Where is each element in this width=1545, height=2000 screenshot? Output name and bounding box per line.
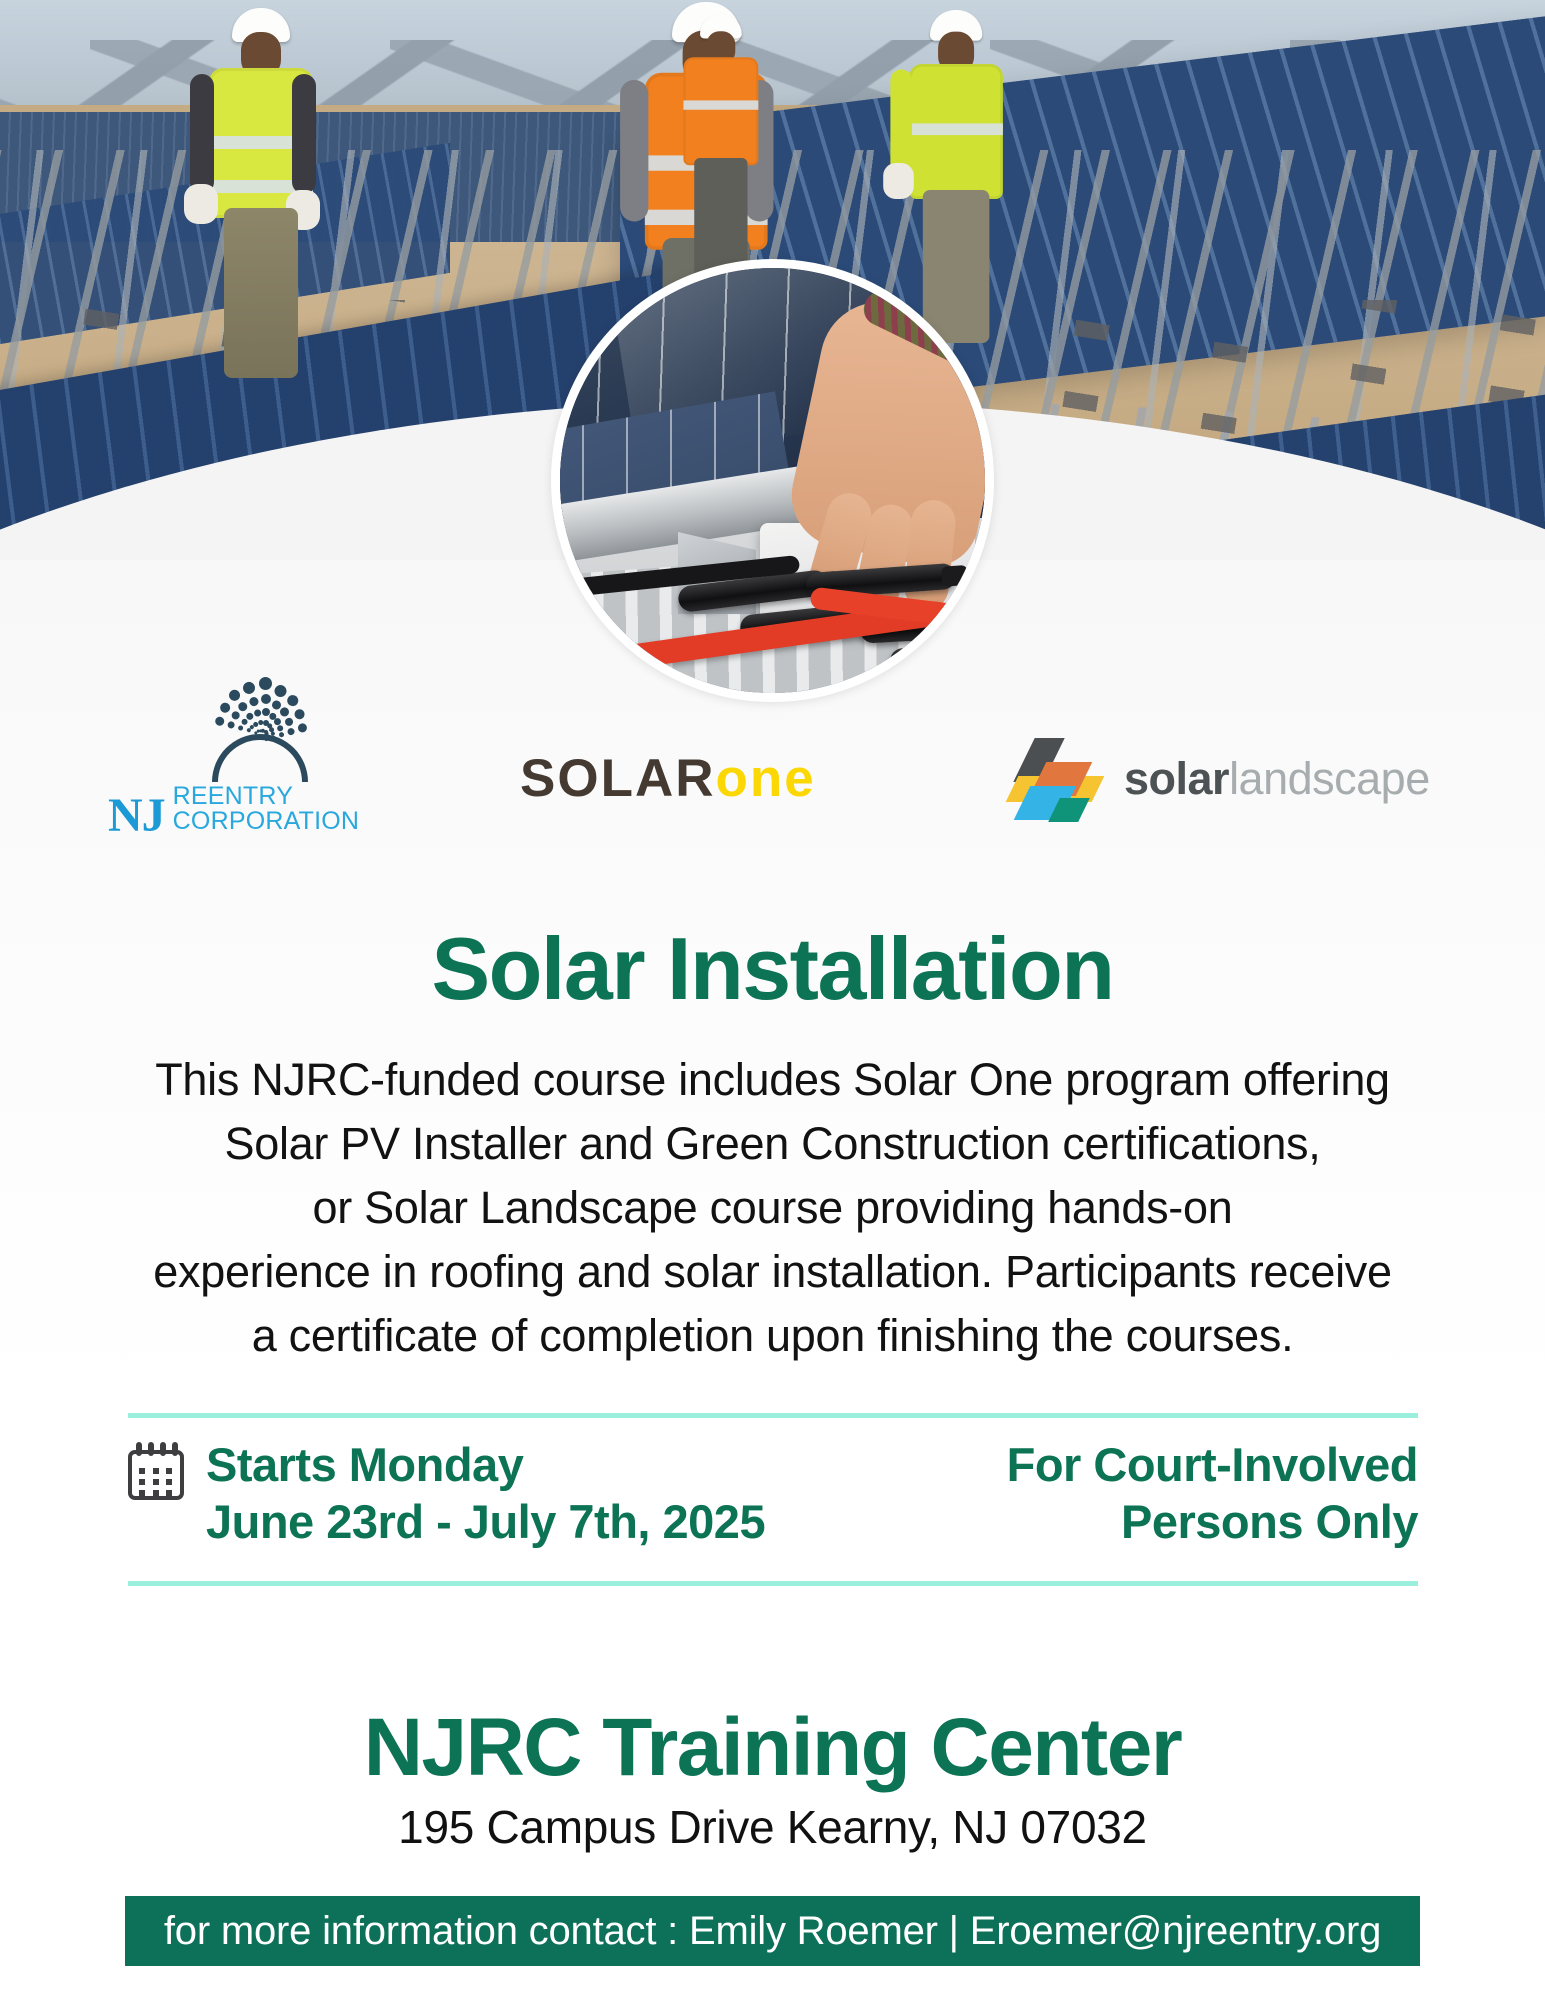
njrc-name-line2: CORPORATION	[173, 809, 359, 834]
divider-bottom	[128, 1581, 1418, 1586]
description-line: Solar PV Installer and Green Constructio…	[110, 1112, 1435, 1176]
partner-logo-row: NJ REENTRY CORPORATION SOLARone solarlan…	[0, 726, 1545, 831]
solarone-part2: one	[716, 749, 816, 808]
eligibility-line2: Persons Only	[1007, 1493, 1418, 1550]
worker-legs	[224, 208, 298, 378]
mc4-connector	[890, 648, 994, 679]
venue-name: NJRC Training Center	[0, 1700, 1545, 1796]
description-line: experience in roofing and solar installa…	[110, 1240, 1435, 1304]
worker-arm	[890, 69, 912, 177]
page-title: Solar Installation	[0, 918, 1545, 1020]
eligibility-line1: For Court-Involved	[1007, 1436, 1418, 1493]
schedule-text: Starts Monday June 23rd - July 7th, 2025	[206, 1436, 765, 1550]
course-description: This NJRC-funded course includes Solar O…	[110, 1048, 1435, 1368]
calendar-icon	[128, 1442, 184, 1500]
schedule-block: Starts Monday June 23rd - July 7th, 2025	[128, 1428, 765, 1550]
contact-text: for more information contact : Emily Roe…	[164, 1909, 1381, 1954]
contact-footer-bar: for more information contact : Emily Roe…	[125, 1896, 1420, 1966]
work-glove	[883, 163, 914, 199]
description-line: or Solar Landscape course providing hand…	[110, 1176, 1435, 1240]
solarlandscape-part2: landscape	[1229, 753, 1430, 804]
divider-top	[128, 1413, 1418, 1418]
njrc-initials: NJ	[108, 795, 165, 837]
inset-photo-panel-wiring	[551, 259, 994, 702]
flyer-page: NJ REENTRY CORPORATION SOLARone solarlan…	[0, 0, 1545, 2000]
work-glove	[184, 184, 218, 224]
logo-nj-reentry-corporation: NJ REENTRY CORPORATION	[100, 726, 420, 831]
solarlandscape-wordmark: solarlandscape	[1124, 753, 1430, 805]
arc-shape	[212, 734, 308, 782]
worker-arm	[190, 74, 214, 194]
schedule-line1: Starts Monday	[206, 1436, 765, 1493]
venue-address: 195 Campus Drive Kearny, NJ 07032	[0, 1800, 1545, 1854]
crosshatch-bars-icon	[1008, 736, 1108, 822]
description-line: This NJRC-funded course includes Solar O…	[110, 1048, 1435, 1112]
vest-stripe	[683, 100, 758, 109]
solarone-part1: SOLAR	[520, 749, 716, 808]
details-row: Starts Monday June 23rd - July 7th, 2025…	[128, 1428, 1418, 1578]
sunburst-arc-icon	[160, 726, 360, 782]
venue-block: NJRC Training Center 195 Campus Drive Ke…	[0, 1700, 1545, 1854]
logo-solar-landscape: solarlandscape	[1008, 736, 1430, 822]
worker-arm	[292, 74, 316, 194]
worker-arm	[620, 80, 648, 222]
solarlandscape-part1: solar	[1124, 753, 1229, 804]
njrc-name-line1: REENTRY	[173, 784, 359, 809]
eligibility-block: For Court-Involved Persons Only	[1007, 1428, 1418, 1550]
vest-stripe	[909, 123, 1003, 135]
njrc-name: REENTRY CORPORATION	[173, 784, 359, 837]
njrc-wordmark: NJ REENTRY CORPORATION	[100, 784, 420, 837]
calendar-grid-dots	[139, 1468, 175, 1496]
logo-solar-one: SOLARone	[520, 748, 816, 809]
description-line: a certificate of completion upon finishi…	[110, 1304, 1435, 1368]
hi-vis-vest	[683, 57, 758, 165]
schedule-line2: June 23rd - July 7th, 2025	[206, 1493, 765, 1550]
